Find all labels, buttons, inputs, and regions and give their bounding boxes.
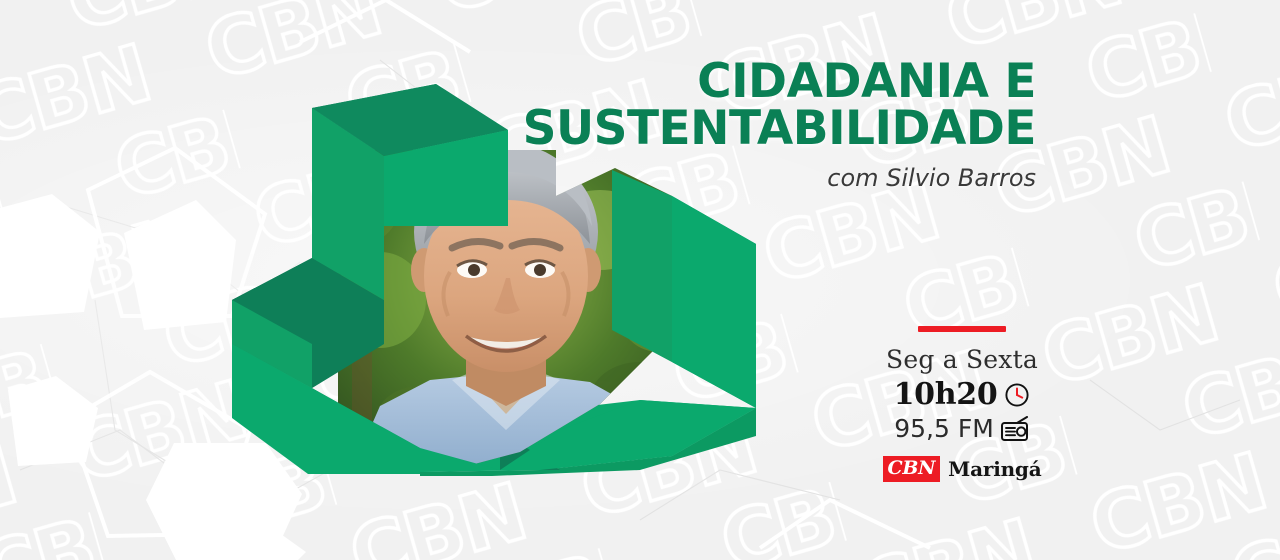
host-credit: com Silvio Barros	[396, 164, 1036, 192]
broadcast-time: 10h20	[894, 379, 998, 411]
banner-root: CBN CBN	[0, 0, 1280, 560]
weekdays-label: Seg a Sexta	[874, 346, 1050, 374]
broadcast-time-row: 10h20	[874, 379, 1050, 411]
station-city-label: Maringá	[948, 459, 1041, 479]
schedule-info-block: Seg a Sexta 10h20 95,5 FM	[874, 326, 1050, 482]
frequency-label: 95,5 FM	[894, 415, 994, 443]
program-title-line-1: CIDADANIA E	[396, 58, 1036, 105]
station-logo: CBN Maringá	[874, 456, 1050, 482]
cbn-logo-mark: CBN	[883, 456, 941, 482]
radio-icon	[1000, 416, 1030, 443]
red-accent-bar	[918, 326, 1006, 332]
program-title-line-2: SUSTENTABILIDADE	[396, 105, 1036, 152]
clock-icon	[1004, 382, 1030, 408]
program-title-block: CIDADANIA E SUSTENTABILIDADE com Silvio …	[396, 58, 1036, 192]
frequency-row: 95,5 FM	[874, 415, 1050, 443]
